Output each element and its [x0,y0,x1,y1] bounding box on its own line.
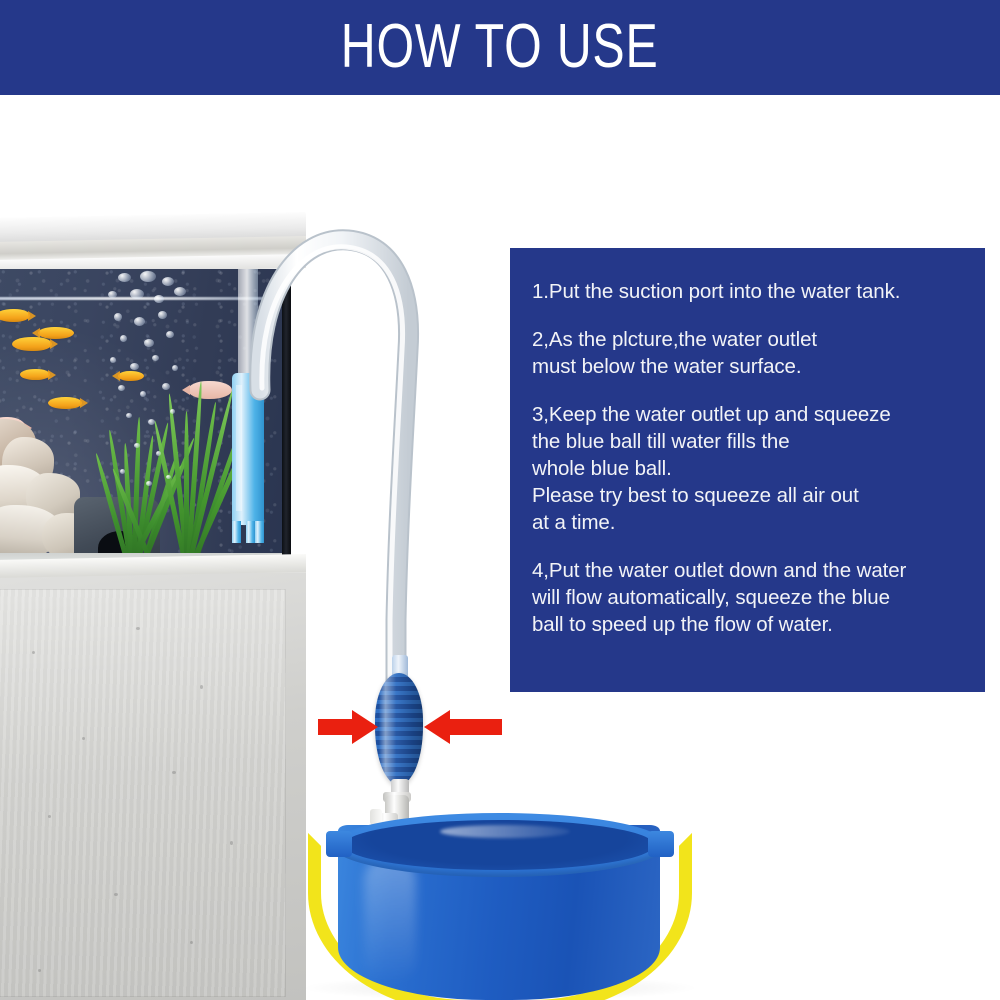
fish-yellow [0,309,30,322]
fish-yellow [118,371,144,381]
fish-yellow [12,337,52,351]
fish-yellow [38,327,74,339]
fish-yellow [48,397,82,409]
instruction-line: ball to speed up the flow of water. [532,611,967,638]
header-banner: HOW TO USE [0,0,1000,95]
page-title: HOW TO USE [341,16,659,78]
water-bucket [300,795,700,1000]
tank-stand-cabinet [0,573,306,1000]
cabinet-door-panel [0,589,286,997]
instruction-line: will flow automatically, squeeze the blu… [532,584,967,611]
tank-water-view [0,269,290,569]
fish-yellow [20,369,50,380]
blue-squeeze-ball [375,673,423,785]
instruction-line: 2,As the plcture,the water outlet [532,326,967,353]
arrow-right-icon [424,710,502,744]
instruction-line: 3,Keep the water outlet up and squeeze [532,401,967,428]
bucket-handle-lug [648,831,674,857]
how-to-use-infographic: HOW TO USE [0,0,1000,1000]
instruction-line: at a time. [532,509,967,536]
instruction-line: 1.Put the suction port into the water ta… [532,278,967,305]
instruction-line: the blue ball till water fills the [532,428,967,455]
arrow-left-icon [318,710,378,744]
tank-frame-right [282,269,291,571]
blue-gravel-vacuum-tube [222,269,276,565]
instruction-line: must below the water surface. [532,353,967,380]
spacer [532,536,967,557]
spacer [532,380,967,401]
instruction-line: whole blue ball. [532,455,967,482]
instruction-panel: 1.Put the suction port into the water ta… [510,248,985,692]
bucket-handle-lug [326,831,352,857]
instruction-line: Please try best to squeeze all air out [532,482,967,509]
instruction-line: 4,Put the water outlet down and the wate… [532,557,967,584]
bucket-rim-highlight [440,825,570,838]
spacer [532,305,967,326]
